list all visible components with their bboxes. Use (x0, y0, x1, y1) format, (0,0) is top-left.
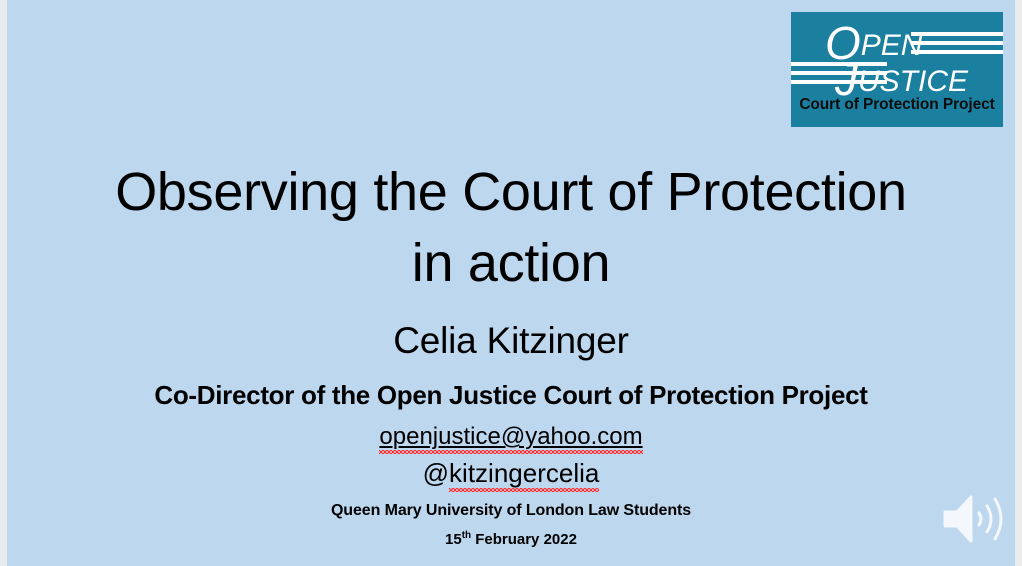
presentation-slide: OPEN JUSTICE Court of Protection Project… (0, 0, 1022, 566)
slide-audience: Queen Mary University of London Law Stud… (7, 502, 1015, 520)
at-symbol: @ (423, 458, 449, 488)
presenter-social-handle[interactable]: kitzingercelia (449, 458, 599, 491)
presenter-email[interactable]: openjustice@yahoo.com (379, 423, 642, 453)
slide-title-line-2: in action (412, 233, 610, 293)
open-justice-logo: OPEN JUSTICE Court of Protection Project (791, 12, 1003, 127)
slide-title-line-1: Observing the Court of Protection (115, 162, 907, 222)
presenter-social-line: @kitzingercelia (7, 458, 1015, 491)
logo-word-justice-rest: USTICE (858, 65, 968, 98)
speaker-icon[interactable] (937, 488, 1009, 550)
slide-date-ordinal: th (462, 530, 471, 541)
slide-title: Observing the Court of Protection in act… (7, 157, 1015, 299)
logo-tagline: Court of Protection Project (791, 96, 1003, 114)
slide-date-day: 15 (445, 531, 462, 548)
logo-row-justice: JUSTICE (791, 52, 1003, 98)
presenter-email-line: openjustice@yahoo.com (7, 423, 1015, 453)
slide-date-rest: February 2022 (471, 531, 577, 548)
presenter-role: Co-Director of the Open Justice Court of… (7, 380, 1015, 411)
logo-bar (911, 41, 1003, 45)
presenter-name: Celia Kitzinger (7, 320, 1015, 362)
slide-surface: OPEN JUSTICE Court of Protection Project… (7, 0, 1015, 566)
logo-bar (911, 32, 1003, 36)
slide-date: 15th February 2022 (7, 531, 1015, 548)
